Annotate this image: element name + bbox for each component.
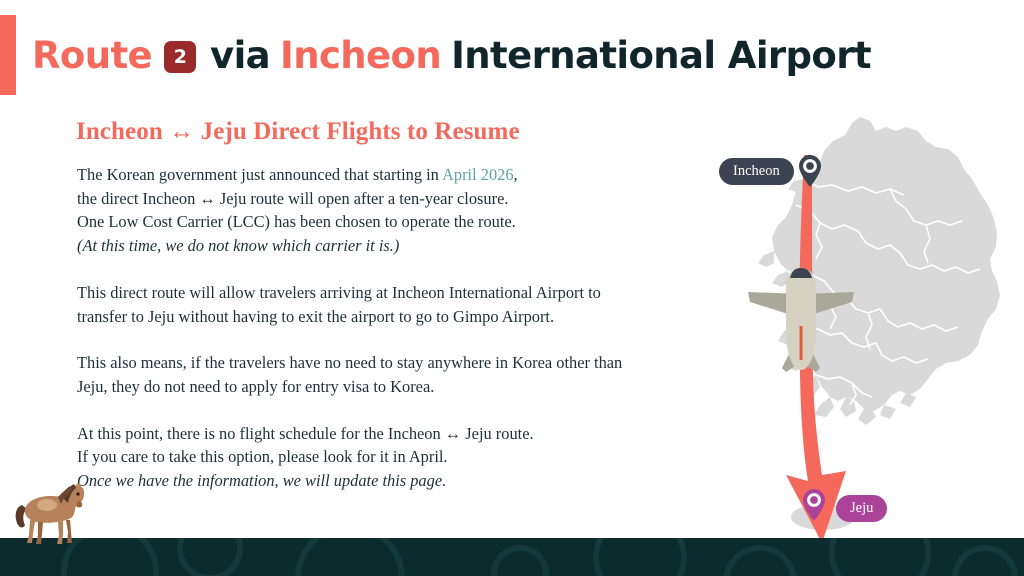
paragraph-4-line-1: At this point, there is no flight schedu… [77, 422, 757, 446]
paragraph-4-line-2: If you care to take this option, please … [77, 445, 757, 469]
paragraph-3-line-1: This also means, if the travelers have n… [77, 351, 757, 375]
korea-map-illustration: Incheon Jeju [700, 105, 1024, 535]
incheon-map-pin-icon[interactable] [799, 155, 821, 187]
paragraph-3-line-2: Jeju, they do not need to apply for entr… [77, 375, 757, 399]
body-copy: The Korean government just announced tha… [77, 163, 757, 493]
paragraph-1-line-2: the direct Incheon ↔ Jeju route will ope… [77, 187, 757, 211]
jeju-pony-illustration-icon [14, 483, 88, 549]
header-via-label: via [210, 34, 270, 77]
paragraph-2-line-2: transfer to Jeju without having to exit … [77, 305, 757, 329]
airplane-icon [742, 260, 860, 378]
slide-canvas: Route 2 via Incheon International Airpor… [0, 0, 1024, 576]
header-route-label: Route [32, 34, 152, 77]
slide-header: Route 2 via Incheon International Airpor… [0, 15, 1024, 95]
paragraph-4: At this point, there is no flight schedu… [77, 422, 757, 493]
paragraph-3: This also means, if the travelers have n… [77, 351, 757, 398]
incheon-city-label[interactable]: Incheon [719, 158, 794, 185]
paragraph-4-line-3: Once we have the information, we will up… [77, 469, 757, 493]
paragraph-1-line-4: (At this time, we do not know which carr… [77, 234, 757, 258]
header-airport-label: International Airport [451, 34, 871, 77]
jeju-map-pin-icon[interactable] [803, 489, 825, 521]
paragraph-gap-1 [77, 258, 757, 281]
jeju-city-label[interactable]: Jeju [836, 495, 887, 522]
date-highlight: April 2026 [442, 165, 513, 184]
paragraph-2-line-1: This direct route will allow travelers a… [77, 281, 757, 305]
route-number-badge: 2 [164, 41, 196, 73]
paragraph-gap-3 [77, 399, 757, 422]
footer-pattern-decoration [0, 538, 1024, 576]
paragraph-2: This direct route will allow travelers a… [77, 281, 757, 328]
paragraph-1-line-3: One Low Cost Carrier (LCC) has been chos… [77, 210, 757, 234]
page-title: Route 2 via Incheon International Airpor… [32, 21, 871, 89]
paragraph-gap-2 [77, 328, 757, 351]
header-accent-bar [0, 15, 16, 95]
section-subtitle: Incheon ↔ Jeju Direct Flights to Resume [76, 118, 520, 146]
paragraph-1: The Korean government just announced tha… [77, 163, 757, 258]
footer-bar [0, 538, 1024, 576]
header-city-label: Incheon [280, 34, 441, 77]
p1-l1-before: The Korean government just announced tha… [77, 165, 442, 184]
p1-l1-after: , [514, 165, 518, 184]
paragraph-1-line-1: The Korean government just announced tha… [77, 163, 757, 187]
